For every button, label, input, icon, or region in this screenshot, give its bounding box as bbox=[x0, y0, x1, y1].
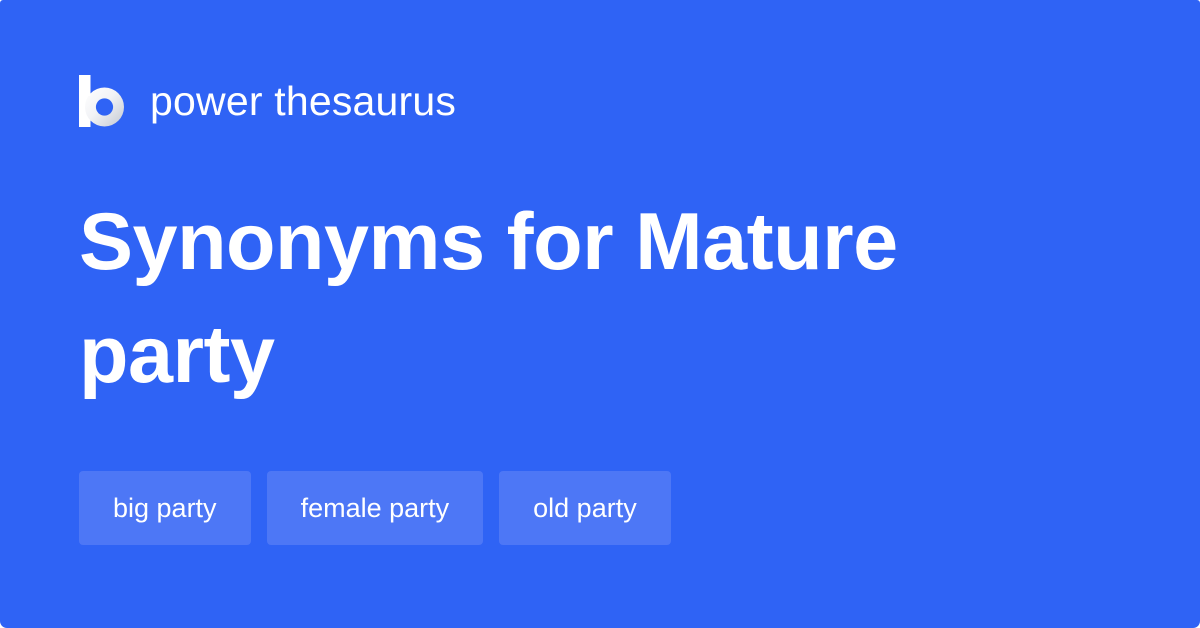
synonym-chip[interactable]: big party bbox=[79, 471, 251, 545]
page-title: Synonyms for Mature party bbox=[79, 186, 959, 412]
share-card: power thesaurus Synonyms for Mature part… bbox=[0, 0, 1200, 628]
synonym-chip-list: big party female party old party bbox=[79, 471, 671, 545]
synonym-chip[interactable]: female party bbox=[267, 471, 484, 545]
brand-header[interactable]: power thesaurus bbox=[79, 72, 456, 130]
synonym-chip[interactable]: old party bbox=[499, 471, 671, 545]
power-thesaurus-b-logo-icon bbox=[79, 75, 124, 127]
brand-name: power thesaurus bbox=[150, 81, 456, 122]
